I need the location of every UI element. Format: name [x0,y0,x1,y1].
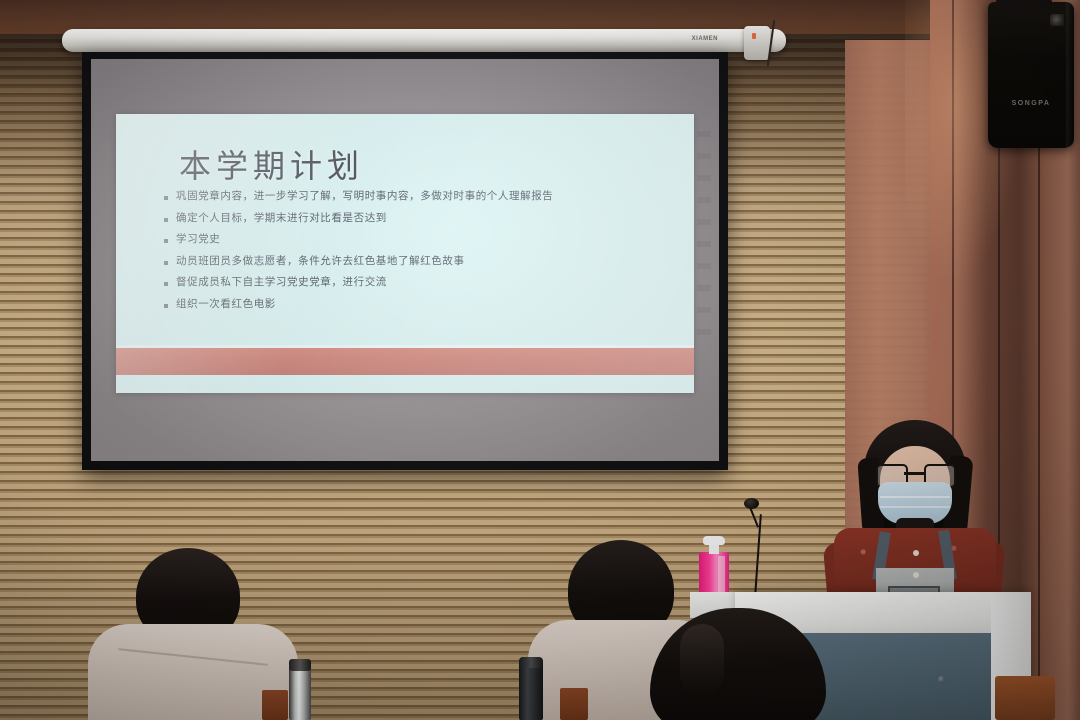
bullet-text: 确定个人目标，学期末进行对比看是否达到 [176,212,387,225]
shirt-button [913,550,919,556]
chair-back [262,690,288,720]
microphone-head-icon [744,498,759,509]
speaker-mount [996,0,1052,10]
presenter [818,420,1008,620]
projection-screen-surface: 本学期计划 巩固党章内容，进一步学习了解，写明时事内容，多做对时事的个人理解报告… [91,59,719,461]
list-item: 组织一次看红色电影 [164,298,674,311]
chair-back [560,688,588,720]
projection-screen-frame: 本学期计划 巩固党章内容，进一步学习了解，写明时事内容，多做对时事的个人理解报告… [82,52,728,470]
screen-side-text-artifact [697,131,711,351]
lecture-hall-scene: SONGPA XIAMEN 本学期计划 巩固党章内容，进一步学习了解，写明时事内… [0,0,1080,720]
black-thermos [519,661,543,720]
speaker-edge [1066,2,1074,148]
bullet-dot-icon [164,261,168,265]
screen-motor-cap [744,26,770,60]
bullet-text: 组织一次看红色电影 [176,298,276,311]
power-led-icon [752,33,756,39]
mask-fold [880,506,950,508]
thermos-cap [289,659,311,671]
speaker-brand-label: SONGPA [988,100,1074,107]
bullet-text: 学习党史 [176,233,220,246]
bullet-text: 督促成员私下自主学习党史党章，进行交流 [176,276,387,289]
mask-fold [880,496,950,498]
bullet-text: 巩固党章内容，进一步学习了解，写明时事内容，多做对时事的个人理解报告 [176,190,553,203]
wall-speaker: SONGPA [988,2,1074,148]
audience-member-left [88,548,288,720]
list-item: 督促成员私下自主学习党史党章，进行交流 [164,276,674,289]
speaker-badge-icon [1050,14,1064,26]
presenter-glasses [876,464,954,484]
presentation-slide: 本学期计划 巩固党章内容，进一步学习了解，写明时事内容，多做对时事的个人理解报告… [116,114,694,393]
list-item: 巩固党章内容，进一步学习了解，写明时事内容，多做对时事的个人理解报告 [164,190,674,203]
silver-thermos [289,663,311,720]
podium-screw [938,676,945,683]
thermos-cap [519,657,543,668]
hair-highlight [680,624,724,696]
slide-title: 本学期计划 [179,141,364,187]
list-item: 确定个人目标，学期末进行对比看是否达到 [164,212,674,225]
audience-head [650,608,826,720]
bullet-dot-icon [164,218,168,222]
sanitizer-label [718,556,725,592]
bullet-dot-icon [164,196,168,200]
list-item: 学习党史 [164,233,674,246]
audience-member-foreground [630,608,850,720]
bullet-dot-icon [164,239,168,243]
glasses-bridge [904,472,926,475]
chair-back [995,676,1055,720]
bullet-text: 动员班团员多做志愿者，条件允许去红色基地了解红色故事 [176,255,465,268]
shirt-button [913,572,919,578]
slide-bullet-list: 巩固党章内容，进一步学习了解，写明时事内容，多做对时事的个人理解报告 确定个人目… [164,190,674,319]
slide-accent-band [116,348,694,375]
housing-brand-label: XIAMEN [692,36,718,42]
list-item: 动员班团员多做志愿者，条件允许去红色基地了解红色故事 [164,255,674,268]
bullet-dot-icon [164,282,168,286]
bullet-dot-icon [164,304,168,308]
projector-screen-housing: XIAMEN [62,29,786,52]
